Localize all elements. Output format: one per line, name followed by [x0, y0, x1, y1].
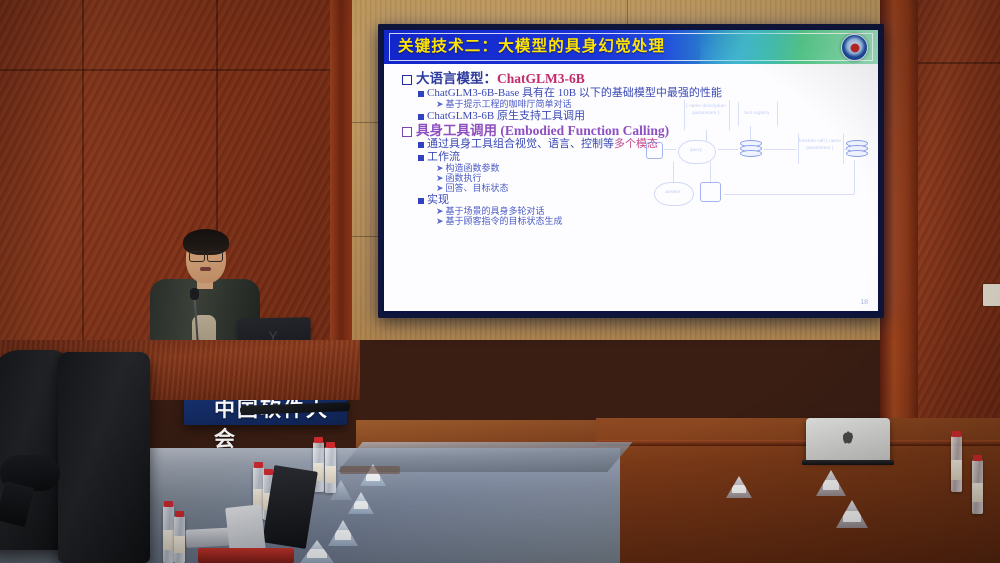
diagram-label: tool registry [738, 110, 776, 117]
arrow-bullet-icon: ➤ [436, 207, 444, 216]
bullet-level3: ➤ 基于顾客指令的目标状态生成 [436, 217, 868, 226]
bottle-cap [952, 431, 961, 437]
diagram-connector [673, 162, 674, 182]
slide-page-number: 18 [860, 299, 868, 306]
name-plate-card [354, 501, 369, 509]
eyeglasses-icon [189, 251, 223, 260]
water-bottle [972, 460, 983, 514]
name-plate-card [732, 485, 747, 493]
leather-conference-chair[interactable] [58, 352, 150, 563]
university-emblem-icon [841, 34, 868, 61]
bullet-text: 构造函数参数 [446, 164, 500, 173]
bottle-cap [254, 462, 263, 468]
diagram-connector [750, 126, 751, 140]
diagram-label: answer [654, 189, 692, 196]
diagram-connector [854, 160, 855, 194]
water-bottle [174, 516, 185, 563]
wall-seam [627, 0, 628, 26]
slide-title: 关键技术二：大模型的具身幻觉处理 [398, 34, 665, 56]
robot-icon [700, 182, 721, 202]
square-filled-bullet-icon [418, 91, 424, 97]
bottle-label [325, 466, 336, 483]
bullet-level2: ChatGLM3-6B-Base 具有在 10B 以下的基础模型中最强的性能 [418, 88, 868, 99]
bottle-cap [175, 511, 184, 517]
diagram-label: { name description parameters } [684, 103, 728, 116]
water-bottle [951, 436, 962, 492]
function-calling-architecture-diagram: { name description parameters } tool reg… [640, 98, 872, 216]
bullet-text: 基于顾客指令的目标状态生成 [446, 217, 563, 226]
database-icon [846, 140, 866, 158]
bullet-text: 基于场景的具身多轮对话 [446, 207, 545, 216]
bullet-accent: ChatGLM3-6B [497, 72, 585, 86]
name-plate-card [307, 549, 326, 558]
diagram-connector [724, 194, 854, 195]
table-edge [596, 440, 1000, 446]
diagram-connector [718, 149, 738, 150]
apple-logo-icon [843, 431, 854, 444]
square-outline-bullet-icon [402, 127, 412, 137]
name-plate-card [843, 511, 861, 522]
arrow-bullet-icon: ➤ [436, 184, 444, 193]
presentation-display[interactable]: 关键技术二：大模型的具身幻觉处理 大语言模型： ChatGLM3-6B Chat… [378, 24, 884, 318]
wall-seam [0, 69, 340, 71]
bullet-text: 实现 [427, 195, 449, 206]
bullet-text: 大语言模型： [416, 72, 497, 86]
diagram-label: query [678, 147, 714, 154]
bottle-cap [264, 469, 273, 475]
bottle-label [174, 536, 185, 553]
arrow-bullet-icon: ➤ [436, 174, 444, 183]
bottle-label [951, 460, 962, 480]
diagram-connector [706, 130, 707, 142]
name-plate-card [366, 473, 381, 481]
wall-seam [82, 0, 84, 340]
diagram-connector [764, 149, 796, 150]
macbook-laptop[interactable] [806, 418, 890, 460]
bullet-text: 回答、目标状态 [446, 184, 509, 193]
microphone-head-icon [190, 288, 199, 300]
square-filled-bullet-icon [418, 114, 424, 120]
square-outline-bullet-icon [402, 75, 412, 85]
diagram-label: function call { name parameters } [798, 138, 842, 151]
diagram-connector [664, 149, 676, 150]
conference-room-photo: 关键技术二：大模型的具身幻觉处理 大语言模型： ChatGLM3-6B Chat… [0, 0, 1000, 563]
bullet-text: 工作流 [427, 152, 460, 163]
right-column [880, 0, 920, 430]
bottle-cap [164, 501, 173, 507]
bottle-label [972, 483, 983, 502]
bottle-cap [326, 442, 335, 448]
square-filled-bullet-icon [418, 198, 424, 204]
arrow-bullet-icon: ➤ [436, 100, 444, 109]
slide-content: 关键技术二：大模型的具身幻觉处理 大语言模型： ChatGLM3-6B Chat… [384, 30, 878, 311]
square-filled-bullet-icon [418, 155, 424, 161]
bullet-text: 通过具身工具组合视觉、语言、控制等 [427, 139, 614, 150]
database-icon [740, 140, 760, 158]
bottle-cap [314, 437, 323, 443]
laptop-base [802, 460, 894, 465]
document-folder [198, 548, 294, 563]
wall-seam [918, 62, 1000, 64]
presenter-mouth [200, 267, 211, 271]
wall-plate [982, 283, 1000, 307]
right-wood-wall [918, 0, 1000, 430]
left-column [330, 0, 352, 340]
bullet-text: 基于提示工程的咖啡厅简单对话 [446, 100, 572, 109]
bullet-text: ChatGLM3-6B-Base 具有在 10B 以下的基础模型中最强的性能 [427, 88, 722, 99]
diagram-connector [844, 149, 848, 150]
bullet-text: 具身工具调用 (Embodied Function Calling) [416, 124, 669, 138]
bullet-level1: 大语言模型： ChatGLM3-6B [402, 72, 868, 86]
diagram-connector [710, 162, 711, 182]
arrow-bullet-icon: ➤ [436, 164, 444, 173]
user-icon [646, 142, 663, 159]
bottle-cap [973, 455, 982, 461]
water-bottle [163, 506, 174, 563]
bottle-label [163, 530, 174, 551]
square-filled-bullet-icon [418, 142, 424, 148]
name-plate-card [823, 480, 840, 490]
bullet-text: 函数执行 [446, 174, 482, 183]
water-bottle [325, 447, 336, 493]
name-plate-card [335, 530, 352, 540]
desk-accessory [340, 466, 400, 474]
bullet-text: ChatGLM3-6B 原生支持工具调用 [427, 111, 585, 122]
slide-title-banner: 关键技术二：大模型的具身幻觉处理 [384, 30, 878, 64]
arrow-bullet-icon: ➤ [436, 217, 444, 226]
